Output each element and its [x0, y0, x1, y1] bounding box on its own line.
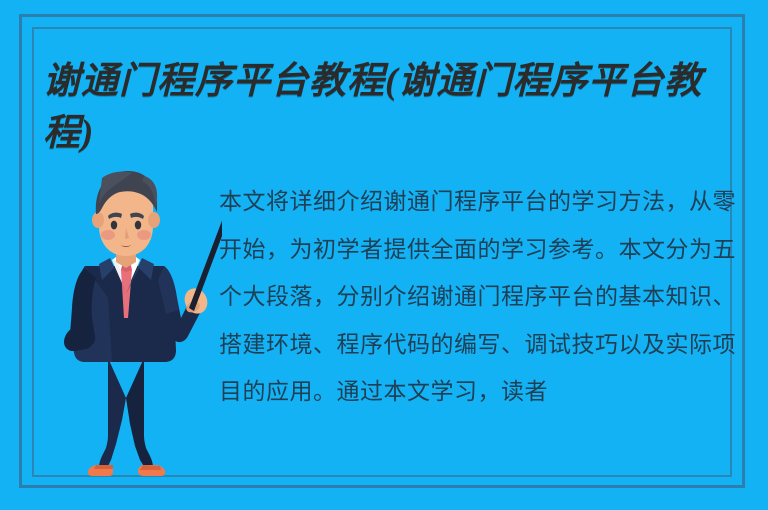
poster-canvas: 谢通门程序平台教程(谢通门程序平台教程): [0, 0, 768, 510]
businessman-with-pointer-illustration: [52, 168, 222, 493]
title-block: 谢通门程序平台教程(谢通门程序平台教程): [43, 56, 743, 160]
body-block: 本文将详细介绍谢通门程序平台的学习方法，从零开始，为初学者提供全面的学习参考。本…: [219, 178, 744, 416]
page-title: 谢通门程序平台教程(谢通门程序平台教程): [43, 56, 743, 160]
body-paragraph: 本文将详细介绍谢通门程序平台的学习方法，从零开始，为初学者提供全面的学习参考。本…: [219, 178, 744, 416]
